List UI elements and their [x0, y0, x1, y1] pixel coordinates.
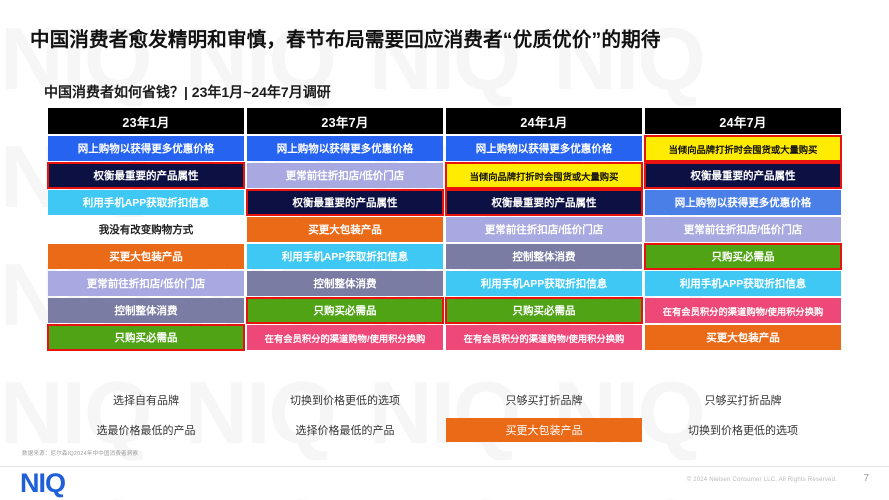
- table-cell: 利用手机APP获取折扣信息: [645, 271, 841, 296]
- table-cell: 网上购物以获得更多优惠价格: [446, 136, 642, 161]
- table-cell: 在有会员积分的渠道购物/使用积分换购: [247, 325, 443, 350]
- tail-cell: 切换到价格更低的选项: [247, 388, 443, 412]
- table-cell: 网上购物以获得更多优惠价格: [247, 136, 443, 161]
- table-cell: 只购买必需品: [247, 298, 443, 323]
- table-column-1: 23年1月网上购物以获得更多优惠价格权衡最重要的产品属性利用手机APP获取折扣信…: [48, 108, 244, 350]
- table-cell: 控制整体消费: [247, 271, 443, 296]
- table-cell: 权衡最重要的产品属性: [645, 163, 841, 188]
- table-cell: 只购买必需品: [48, 325, 244, 350]
- tail-column-4: 只够买打折品牌切换到价格更低的选项: [645, 388, 841, 442]
- tail-cell: 选最价格最低的产品: [48, 418, 244, 442]
- watermark-text: NIQ: [553, 472, 703, 500]
- table-cell: 控制整体消费: [446, 244, 642, 269]
- table-cell: 更常前往折扣店/低价门店: [247, 163, 443, 188]
- comparison-table-tail: 选择自有品牌选最价格最低的产品切换到价格更低的选项选择价格最低的产品只够买打折品…: [48, 388, 841, 442]
- tail-column-1: 选择自有品牌选最价格最低的产品: [48, 388, 244, 442]
- watermark-text: NIQ: [369, 472, 519, 500]
- table-cell: 网上购物以获得更多优惠价格: [645, 190, 841, 215]
- table-column-4: 24年7月当倾向品牌打折时会囤货或大量购买权衡最重要的产品属性网上购物以获得更多…: [645, 108, 841, 350]
- page-number: 7: [863, 473, 869, 484]
- table-cell: 更常前往折扣店/低价门店: [645, 217, 841, 242]
- niq-logo: NIQ: [20, 468, 65, 499]
- table-cell: 网上购物以获得更多优惠价格: [48, 136, 244, 161]
- tail-column-3: 只够买打折品牌买更大包装产品: [446, 388, 642, 442]
- tail-cell: 买更大包装产品: [446, 418, 642, 442]
- column-header: 24年1月: [446, 108, 642, 134]
- table-cell: 只购买必需品: [446, 298, 642, 323]
- table-cell: 利用手机APP获取折扣信息: [446, 271, 642, 296]
- copyright-text: © 2024 Nielsen Consumer LLC. All Rights …: [687, 477, 837, 483]
- table-cell: 权衡最重要的产品属性: [247, 190, 443, 215]
- table-column-3: 24年1月网上购物以获得更多优惠价格当倾向品牌打折时会囤货或大量购买权衡最重要的…: [446, 108, 642, 350]
- table-cell: 利用手机APP获取折扣信息: [48, 190, 244, 215]
- table-cell: 在有会员积分的渠道购物/使用积分换购: [645, 298, 841, 323]
- tail-cell: 选择价格最低的产品: [247, 418, 443, 442]
- table-cell: 只购买必需品: [645, 244, 841, 269]
- footer-divider: [0, 466, 889, 467]
- table-cell: 当倾向品牌打折时会囤货或大量购买: [446, 163, 642, 188]
- table-cell: 买更大包装产品: [645, 325, 841, 350]
- page-title: 中国消费者愈发精明和审慎，春节布局需要回应消费者“优质优价”的期待: [30, 23, 661, 52]
- table-cell: 买更大包装产品: [48, 244, 244, 269]
- table-cell: 更常前往折扣店/低价门店: [446, 217, 642, 242]
- table-cell: 我没有改变购物方式: [48, 217, 244, 242]
- column-header: 23年7月: [247, 108, 443, 134]
- tail-cell: 切换到价格更低的选项: [645, 418, 841, 442]
- tail-column-2: 切换到价格更低的选项选择价格最低的产品: [247, 388, 443, 442]
- watermark-text: NIQ: [184, 472, 334, 500]
- slide-title-bar: 中国消费者愈发精明和审慎，春节布局需要回应消费者“优质优价”的期待: [0, 18, 889, 56]
- tail-cell: 只够买打折品牌: [446, 388, 642, 412]
- tail-cell: 选择自有品牌: [48, 388, 244, 412]
- table-cell: 买更大包装产品: [247, 217, 443, 242]
- page-subtitle: 中国消费者如何省钱？| 23年1月~24年7月调研: [44, 82, 331, 102]
- table-cell: 权衡最重要的产品属性: [446, 190, 642, 215]
- table-cell: 更常前往折扣店/低价门店: [48, 271, 244, 296]
- table-cell: 在有会员积分的渠道购物/使用积分换购: [446, 325, 642, 350]
- source-note: 数据来源：尼尔森IQ2024年中中国消费者洞察: [22, 449, 138, 457]
- table-cell: 利用手机APP获取折扣信息: [247, 244, 443, 269]
- table-column-2: 23年7月网上购物以获得更多优惠价格更常前往折扣店/低价门店权衡最重要的产品属性…: [247, 108, 443, 350]
- table-cell: 控制整体消费: [48, 298, 244, 323]
- table-cell: 当倾向品牌打折时会囤货或大量购买: [645, 136, 841, 161]
- slide-root: NIQNIQNIQNIQNIQNIQNIQNIQNIQNIQNIQNIQNIQN…: [0, 0, 889, 500]
- tail-cell: 只够买打折品牌: [645, 388, 841, 412]
- column-header: 23年1月: [48, 108, 244, 134]
- comparison-table: 23年1月网上购物以获得更多优惠价格权衡最重要的产品属性利用手机APP获取折扣信…: [48, 108, 841, 350]
- table-cell: 权衡最重要的产品属性: [48, 163, 244, 188]
- column-header: 24年7月: [645, 108, 841, 134]
